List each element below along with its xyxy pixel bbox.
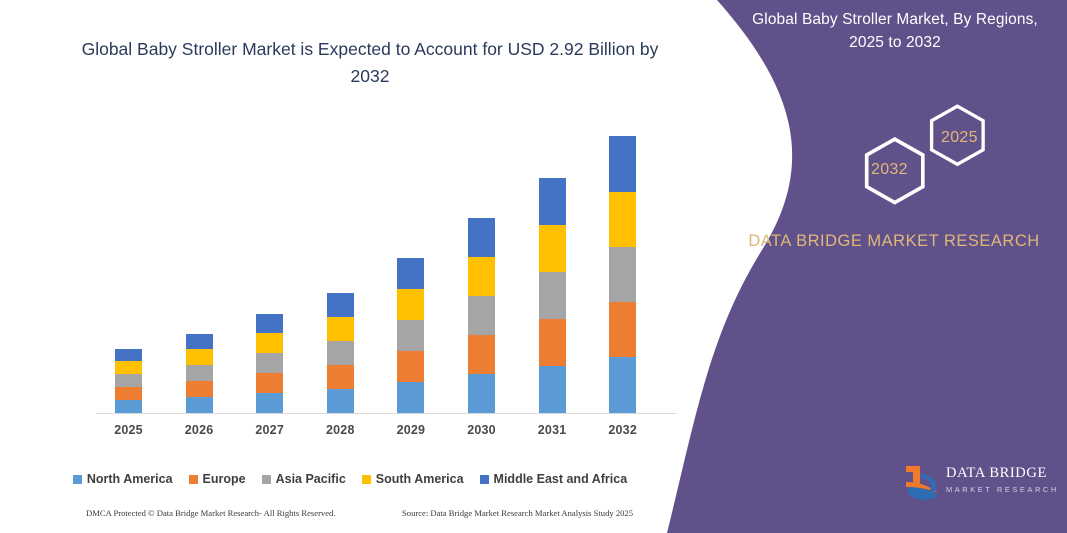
dbmr-logo-mark-icon xyxy=(900,460,944,504)
x-axis-label-2026: 2026 xyxy=(169,423,229,437)
x-axis-label-2032: 2032 xyxy=(593,423,653,437)
chart-title: Global Baby Stroller Market is Expected … xyxy=(60,36,680,90)
bar-segment xyxy=(256,393,283,413)
x-axis-label-2029: 2029 xyxy=(381,423,441,437)
bar-segment xyxy=(327,317,354,341)
legend-label: Asia Pacific xyxy=(276,472,346,486)
panel-title: Global Baby Stroller Market, By Regions,… xyxy=(740,8,1050,54)
chart-legend: North AmericaEuropeAsia PacificSouth Ame… xyxy=(0,472,700,486)
legend-label: South America xyxy=(376,472,464,486)
bar-segment xyxy=(256,314,283,333)
bar-segment xyxy=(115,349,142,361)
panel-content: Global Baby Stroller Market, By Regions,… xyxy=(720,0,1067,533)
bar-segment xyxy=(397,320,424,351)
legend-swatch-icon xyxy=(73,475,82,484)
hexagon-group: 2025 2032 xyxy=(828,98,1028,208)
bar-segment xyxy=(609,247,636,302)
bar-segment xyxy=(327,293,354,317)
legend-item[interactable]: Asia Pacific xyxy=(262,472,346,486)
legend-label: Middle East and Africa xyxy=(494,472,628,486)
bar-segment xyxy=(609,136,636,192)
bar-2030[interactable] xyxy=(468,218,495,413)
bar-segment xyxy=(327,365,354,389)
bar-2028[interactable] xyxy=(327,293,354,413)
footer-copyright: DMCA Protected © Data Bridge Market Rese… xyxy=(86,508,336,518)
bar-segment xyxy=(256,373,283,393)
bar-segment xyxy=(115,400,142,413)
bar-segment xyxy=(256,353,283,373)
bar-segment xyxy=(539,272,566,319)
bar-segment xyxy=(539,178,566,225)
bar-2026[interactable] xyxy=(186,334,213,413)
bar-segment xyxy=(186,334,213,349)
legend-item[interactable]: North America xyxy=(73,472,173,486)
bar-segment xyxy=(186,349,213,365)
bar-segment xyxy=(468,374,495,413)
bar-segment xyxy=(468,218,495,257)
bar-segment xyxy=(468,257,495,296)
legend-swatch-icon xyxy=(362,475,371,484)
bar-segment xyxy=(397,351,424,382)
hexagon-label-start-year: 2025 xyxy=(941,129,978,147)
bar-segment xyxy=(539,225,566,272)
bar-segment xyxy=(609,192,636,247)
legend-item[interactable]: Europe xyxy=(189,472,246,486)
bar-segment xyxy=(397,258,424,289)
hexagon-outlines xyxy=(828,98,1028,208)
bar-2027[interactable] xyxy=(256,314,283,413)
stacked-bar-chart xyxy=(96,120,676,414)
bar-segment xyxy=(539,366,566,413)
bar-segment xyxy=(327,341,354,365)
bar-2025[interactable] xyxy=(115,349,142,413)
footer-source: Source: Data Bridge Market Research Mark… xyxy=(402,508,633,518)
bar-segment xyxy=(609,302,636,357)
infographic-canvas: Global Baby Stroller Market, By Regions,… xyxy=(0,0,1067,533)
bar-segment xyxy=(115,361,142,374)
brand-name: DATA BRIDGE MARKET RESEARCH xyxy=(744,228,1044,255)
bar-segment xyxy=(186,365,213,381)
bar-2029[interactable] xyxy=(397,258,424,413)
bar-segment xyxy=(609,357,636,413)
bar-segment xyxy=(186,381,213,397)
x-axis-labels: 20252026202720282029203020312032 xyxy=(96,423,676,443)
legend-swatch-icon xyxy=(262,475,271,484)
legend-label: North America xyxy=(87,472,173,486)
dbmr-logo-line1: DATA BRIDGE xyxy=(946,465,1059,482)
x-axis-line xyxy=(96,413,676,414)
hexagon-label-end-year: 2032 xyxy=(871,161,908,179)
bar-2032[interactable] xyxy=(609,136,636,413)
legend-swatch-icon xyxy=(480,475,489,484)
bar-segment xyxy=(256,333,283,353)
bar-2031[interactable] xyxy=(539,178,566,413)
x-axis-label-2028: 2028 xyxy=(310,423,370,437)
legend-item[interactable]: Middle East and Africa xyxy=(480,472,628,486)
bar-segment xyxy=(327,389,354,413)
bar-segment xyxy=(397,382,424,413)
dbmr-logo: DATA BRIDGE MARKET RESEARCH xyxy=(900,460,1060,510)
x-axis-label-2031: 2031 xyxy=(522,423,582,437)
legend-label: Europe xyxy=(203,472,246,486)
legend-item[interactable]: South America xyxy=(362,472,464,486)
bar-segment xyxy=(115,387,142,400)
dbmr-logo-text: DATA BRIDGE MARKET RESEARCH xyxy=(946,465,1059,494)
bar-segment xyxy=(468,296,495,335)
footer: DMCA Protected © Data Bridge Market Rese… xyxy=(0,508,700,526)
x-axis-label-2027: 2027 xyxy=(240,423,300,437)
bar-segment xyxy=(115,374,142,387)
x-axis-label-2025: 2025 xyxy=(99,423,159,437)
bar-segment xyxy=(539,319,566,366)
x-axis-label-2030: 2030 xyxy=(452,423,512,437)
legend-swatch-icon xyxy=(189,475,198,484)
bar-segment xyxy=(468,335,495,374)
dbmr-logo-line2: MARKET RESEARCH xyxy=(946,485,1059,494)
bar-segment xyxy=(397,289,424,320)
bar-segment xyxy=(186,397,213,413)
